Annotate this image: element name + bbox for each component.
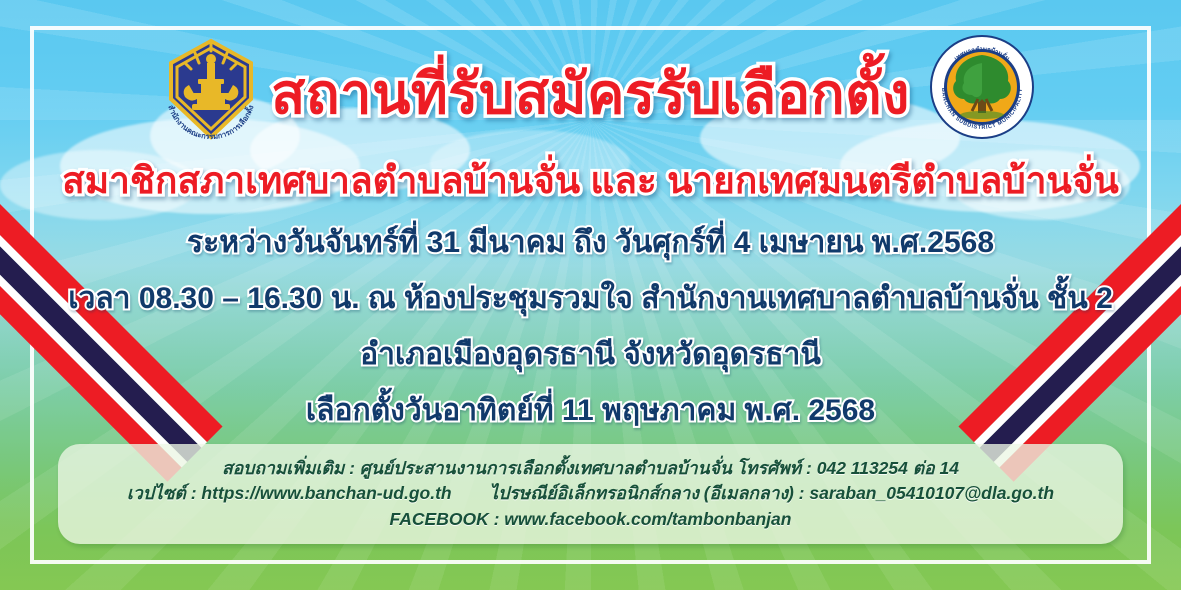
footer-website[interactable]: เวปไซต์ : https://www.banchan-ud.go.th: [127, 483, 452, 503]
election-announcement-banner: สำนักงานคณะกรรมการการเลือกตั้ง เทศบาลตำ: [0, 0, 1181, 590]
body-line-dates: ระหว่างวันจันทร์ที่ 31 มีนาคม ถึง วันศุก…: [0, 228, 1181, 258]
page-title: สถานที่รับสมัครรับเลือกตั้ง: [271, 66, 910, 122]
page-subtitle: สมาชิกสภาเทศบาลตำบลบ้านจั่น และ นายกเทศม…: [62, 162, 1119, 199]
footer-line-contact: สอบถามเพิ่มเติม : ศูนย์ประสานงานการเลือก…: [68, 456, 1113, 481]
footer-line-web-email: เวปไซต์ : https://www.banchan-ud.go.th ไ…: [68, 481, 1113, 506]
body-line-district: อำเภอเมืองอุดรธานี จังหวัดอุดรธานี: [0, 340, 1181, 370]
contact-info-box: สอบถามเพิ่มเติม : ศูนย์ประสานงานการเลือก…: [58, 444, 1123, 544]
subheadline-row: สมาชิกสภาเทศบาลตำบลบ้านจั่น และ นายกเทศม…: [0, 162, 1181, 199]
footer-email[interactable]: ไปรษณีย์อิเล็กทรอนิกส์กลาง (อีเมลกลาง) :…: [489, 483, 1054, 503]
announcement-body: ระหว่างวันจันทร์ที่ 31 มีนาคม ถึง วันศุก…: [0, 228, 1181, 452]
headline-row: สถานที่รับสมัครรับเลือกตั้ง: [0, 66, 1181, 122]
footer-line-facebook[interactable]: FACEBOOK : www.facebook.com/tambonbanjan: [68, 507, 1113, 532]
body-line-election-day: เลือกตั้งวันอาทิตย์ที่ 11 พฤษภาคม พ.ศ. 2…: [0, 396, 1181, 426]
body-line-time-venue: เวลา 08.30 – 16.30 น. ณ ห้องประชุมรวมใจ …: [0, 284, 1181, 314]
